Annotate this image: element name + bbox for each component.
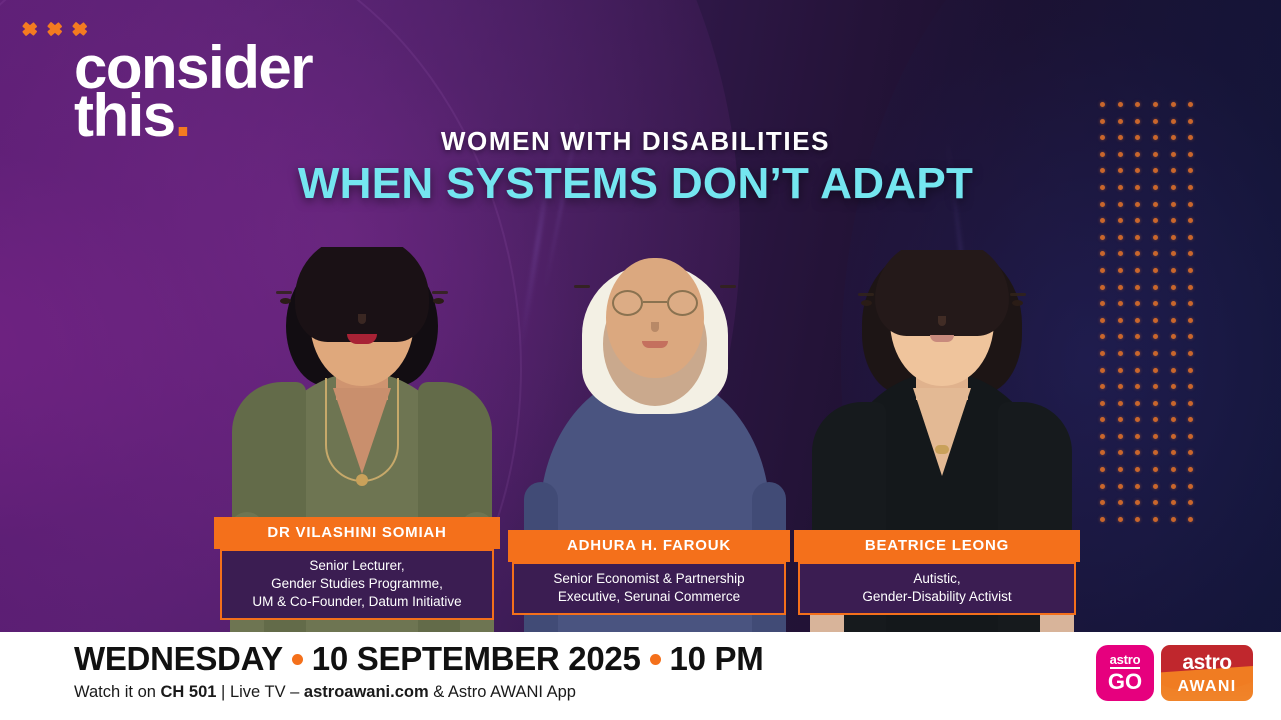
glasses-lens-right — [667, 290, 698, 316]
logo-group: astro GO astro AWANI — [1096, 645, 1253, 701]
speaker-role: Autistic, Gender-Disability Activist — [798, 562, 1076, 615]
glasses-bridge — [643, 301, 667, 303]
speaker-nameplate: BEATRICE LEONG Autistic, Gender-Disabili… — [794, 530, 1080, 615]
bullet-separator-icon — [650, 654, 661, 665]
astro-go-wordmark-top: astro — [1110, 653, 1141, 670]
astro-awani-wordmark-bottom: AWANI — [1161, 678, 1253, 696]
astro-awani-logo[interactable]: astro AWANI — [1161, 645, 1253, 701]
text-separator: | — [216, 683, 229, 701]
astro-awani-wordmark-top: astro — [1161, 651, 1253, 675]
promo-graphic: consider this. WOMEN WITH DISABILITIES W… — [0, 0, 1281, 720]
speaker-name: BEATRICE LEONG — [794, 530, 1080, 562]
broadcast-time: 10 PM — [670, 640, 764, 678]
speaker-nameplate: DR VILASHINI SOMIAH Senior Lecturer, Gen… — [214, 517, 500, 620]
broadcast-date: 10 SEPTEMBER 2025 — [312, 640, 641, 678]
astro-go-logo[interactable]: astro GO — [1096, 645, 1154, 701]
footer-bar: WEDNESDAY 10 SEPTEMBER 2025 10 PM Watch … — [0, 632, 1281, 720]
website-link[interactable]: astroawani.com — [304, 683, 429, 701]
broadcast-day: WEDNESDAY — [74, 640, 283, 678]
speaker-role: Senior Lecturer, Gender Studies Programm… — [220, 549, 494, 620]
bullet-separator-icon — [292, 654, 303, 665]
broadcast-datetime: WEDNESDAY 10 SEPTEMBER 2025 10 PM — [74, 640, 763, 678]
watch-prefix: Watch it on — [74, 683, 161, 701]
speaker-name: DR VILASHINI SOMIAH — [214, 517, 500, 549]
live-tv-label: Live TV – — [230, 683, 304, 701]
glasses-lens-left — [612, 290, 643, 316]
speaker-role: Senior Economist & Partnership Executive… — [512, 562, 786, 615]
watch-suffix: & Astro AWANI App — [429, 683, 576, 701]
speaker-name: ADHURA H. FAROUK — [508, 530, 790, 562]
broadcast-details: WEDNESDAY 10 SEPTEMBER 2025 10 PM Watch … — [74, 640, 763, 702]
astro-go-wordmark-bottom: GO — [1108, 671, 1142, 693]
watch-instructions: Watch it on CH 501 | Live TV – astroawan… — [74, 683, 763, 702]
channel-number: CH 501 — [161, 683, 217, 701]
speaker-nameplate: ADHURA H. FAROUK Senior Economist & Part… — [508, 530, 790, 615]
